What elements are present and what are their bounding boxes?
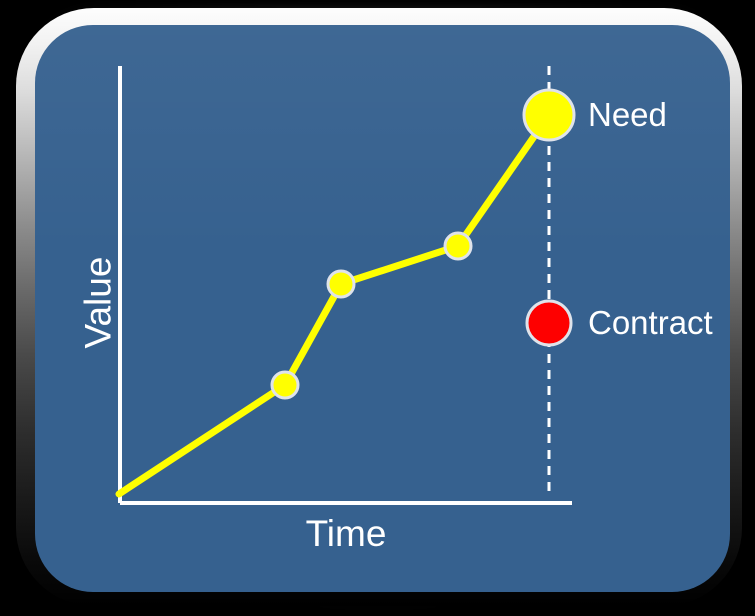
data-point-markers xyxy=(272,233,471,398)
x-axis-label: Time xyxy=(0,515,692,552)
value-trend-line xyxy=(119,115,549,494)
data-point-marker xyxy=(328,271,354,297)
data-point-marker xyxy=(272,372,298,398)
need-marker xyxy=(524,90,574,140)
need-annotation-label: Need xyxy=(588,98,667,131)
y-axis-label: Value xyxy=(80,183,117,423)
figure-canvas: Need Contract Time Value xyxy=(0,0,755,616)
contract-annotation-label: Contract xyxy=(588,306,713,339)
contract-marker xyxy=(527,301,571,345)
data-point-marker xyxy=(445,233,471,259)
